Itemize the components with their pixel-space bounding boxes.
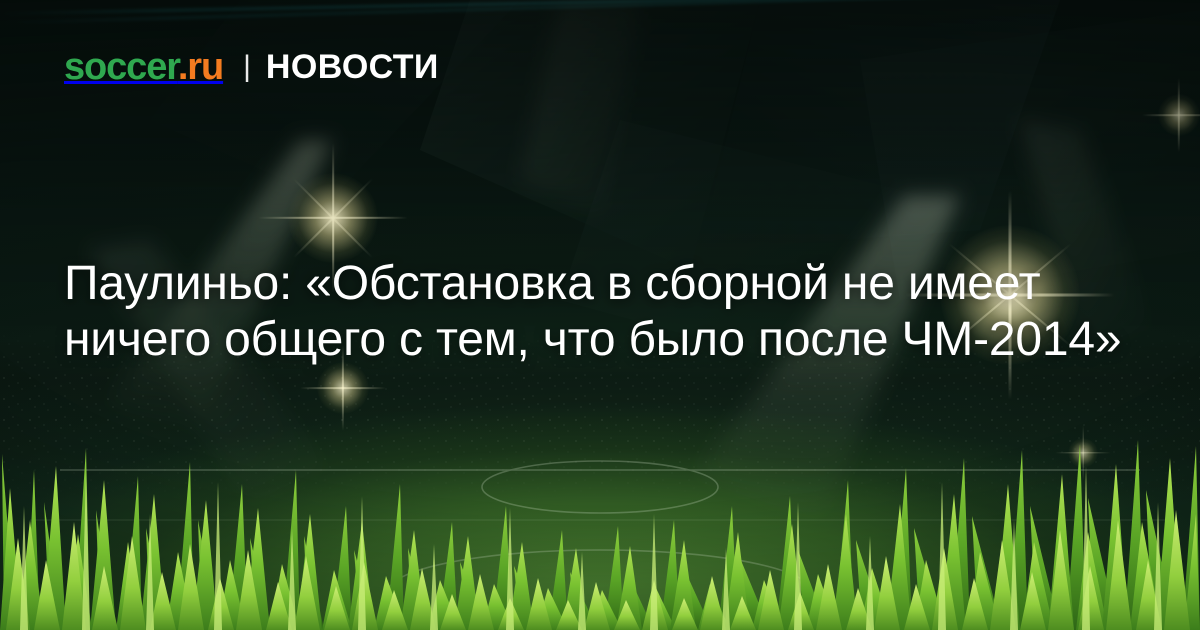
logo-tld-text: .ru (178, 46, 223, 88)
site-logo[interactable]: soccer.ru (64, 48, 223, 86)
site-header: soccer.ru | НОВОСТИ (64, 48, 439, 86)
article-headline: Паулиньо: «Обстановка в сборной не имеет… (64, 256, 1149, 368)
news-share-card: soccer.ru | НОВОСТИ Паулиньо: «Обстановк… (0, 0, 1200, 630)
header-section-label: НОВОСТИ (266, 50, 439, 84)
logo-brand-text: soccer (64, 46, 178, 88)
header-separator: | (243, 52, 251, 82)
grass-foreground (0, 410, 1200, 630)
